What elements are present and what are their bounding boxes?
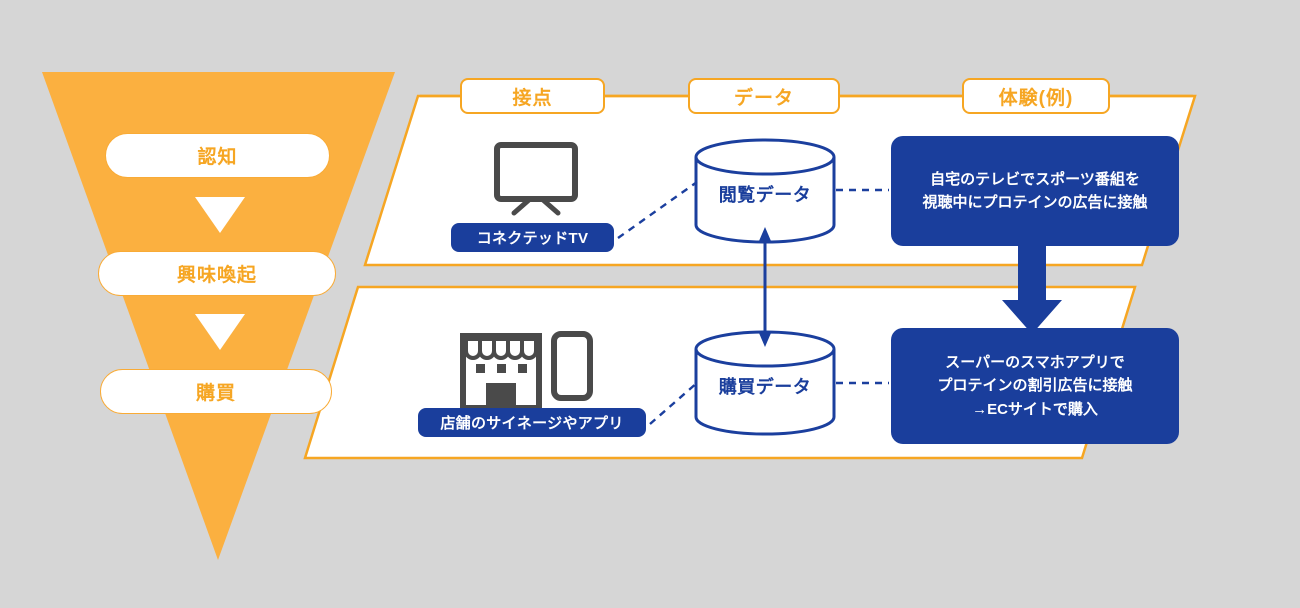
touchpoint-badge-label: 店舗のサイネージやアプリ: [440, 412, 623, 433]
diagram-canvas: 認知 興味喚起 購買 接点 データ 体験(例) コネクテッドTV 店舗のサイネー…: [0, 0, 1300, 608]
data-label-purchase: 購買データ: [700, 373, 830, 399]
funnel-stage-purchase[interactable]: 購買: [100, 369, 332, 414]
column-header-label: 体験(例): [999, 83, 1074, 110]
experience-box-awareness[interactable]: 自宅のテレビでスポーツ番組を 視聴中にプロテインの広告に接触: [891, 136, 1179, 246]
data-label-browsing: 閲覧データ: [700, 181, 830, 207]
data-label-text: 購買データ: [719, 377, 812, 397]
funnel-stage-label: 興味喚起: [177, 260, 257, 287]
funnel-stage-interest[interactable]: 興味喚起: [98, 251, 336, 296]
experience-box-purchase[interactable]: スーパーのスマホアプリで プロテインの割引広告に接触 →ECサイトで購入: [891, 328, 1179, 444]
column-header-data[interactable]: データ: [688, 78, 840, 114]
funnel-stage-awareness[interactable]: 認知: [105, 133, 330, 178]
experience-line: プロテインの割引広告に接触: [937, 374, 1132, 397]
column-header-label: 接点: [512, 83, 552, 110]
experience-line: 視聴中にプロテインの広告に接触: [922, 191, 1147, 214]
experience-line: スーパーのスマホアプリで: [945, 351, 1124, 374]
funnel-stage-label: 認知: [197, 142, 237, 169]
touchpoint-badge-store-signage[interactable]: 店舗のサイネージやアプリ: [418, 408, 646, 437]
column-header-label: データ: [734, 83, 794, 110]
experience-line: →ECサイトで購入: [972, 398, 1098, 421]
column-header-experience[interactable]: 体験(例): [962, 78, 1110, 114]
touchpoint-badge-label: コネクテッドTV: [477, 227, 589, 248]
touchpoint-badge-connected-tv[interactable]: コネクテッドTV: [451, 223, 614, 252]
data-label-text: 閲覧データ: [719, 185, 812, 205]
experience-line: 自宅のテレビでスポーツ番組を: [930, 168, 1140, 191]
column-header-touchpoint[interactable]: 接点: [460, 78, 605, 114]
funnel-stage-label: 購買: [196, 378, 236, 405]
